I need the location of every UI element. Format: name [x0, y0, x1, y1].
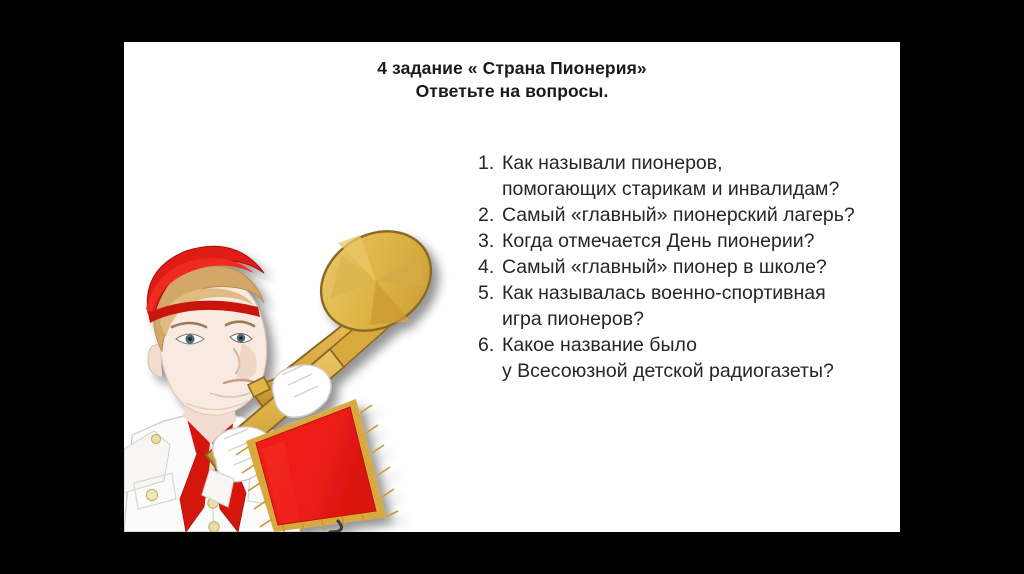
question-line: игра пионеров?	[502, 308, 644, 330]
question-text: Самый «главный» пионер в школе?	[502, 254, 890, 280]
question-number: 4.	[478, 254, 502, 280]
question-list: 1. Как называли пионеров, помогающих ста…	[478, 150, 890, 384]
page-title: 4 задание « Страна Пионерия» Ответьте на…	[124, 57, 900, 103]
question-line: Как называлась военно-спортивная	[502, 282, 826, 304]
list-item: 1. Как называли пионеров, помогающих ста…	[478, 150, 890, 202]
question-text: Какое название было у Всесоюзной детской…	[502, 332, 890, 384]
question-line: помогающих старикам и инвалидам?	[502, 178, 839, 200]
question-line: Самый «главный» пионер в школе?	[502, 256, 827, 278]
question-line: Как называли пионеров,	[502, 152, 723, 174]
question-line: Какое название было	[502, 334, 697, 356]
slide-stage: 4 задание « Страна Пионерия» Ответьте на…	[0, 0, 1024, 574]
list-item: 6. Какое название было у Всесоюзной детс…	[478, 332, 890, 384]
question-line: Когда отмечается День пионерии?	[502, 230, 814, 252]
list-item: 4. Самый «главный» пионер в школе?	[478, 254, 890, 280]
question-text: Как называлась военно-спортивная игра пи…	[502, 280, 890, 332]
list-item: 3. Когда отмечается День пионерии?	[478, 228, 890, 254]
list-item: 5. Как называлась военно-спортивная игра…	[478, 280, 890, 332]
question-line: у Всесоюзной детской радиогазеты?	[502, 360, 834, 382]
question-text: Когда отмечается День пионерии?	[502, 228, 890, 254]
title-line-1: 4 задание « Страна Пионерия»	[124, 57, 900, 80]
pioneer-head	[146, 246, 267, 443]
question-text: Как называли пионеров, помогающих старик…	[502, 150, 890, 202]
question-text: Самый «главный» пионерский лагерь?	[502, 202, 890, 228]
question-number: 3.	[478, 228, 502, 254]
list-item: 2. Самый «главный» пионерский лагерь?	[478, 202, 890, 228]
pioneer-bugle-image	[124, 217, 454, 532]
question-number: 5.	[478, 280, 502, 306]
question-line: Самый «главный» пионерский лагерь?	[502, 204, 855, 226]
question-number: 2.	[478, 202, 502, 228]
question-number: 6.	[478, 332, 502, 358]
title-line-2: Ответьте на вопросы.	[124, 80, 900, 103]
pioneer-bugle-illustration	[124, 217, 454, 532]
slide-panel: 4 задание « Страна Пионерия» Ответьте на…	[124, 42, 900, 532]
question-number: 1.	[478, 150, 502, 176]
bugle-bell	[302, 217, 449, 351]
